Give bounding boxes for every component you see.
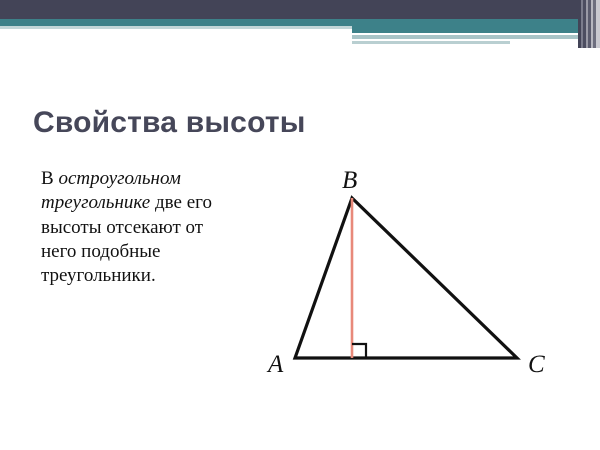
- page-title: Свойства высоты: [33, 106, 306, 140]
- vertex-label-c: C: [528, 351, 545, 378]
- stripe-gray-4: [596, 0, 600, 48]
- triangle-svg: B A C: [250, 160, 570, 385]
- right-angle-marker-icon: [352, 344, 366, 358]
- triangle-figure: B A C: [250, 160, 570, 385]
- slide-header-decoration: [0, 0, 600, 48]
- slide-body-text: В остроугольном треугольнике две его выс…: [41, 167, 231, 289]
- body-text-lead: В: [41, 168, 58, 189]
- header-accent-bar-pale-two: [352, 41, 510, 44]
- vertex-label-b: B: [342, 167, 357, 194]
- header-band-navy: [0, 0, 600, 19]
- header-band-teal: [0, 19, 600, 26]
- triangle-outline-abc: [295, 198, 517, 358]
- header-accent-bar-highlight: [430, 33, 560, 35]
- vertex-label-a: A: [266, 351, 284, 378]
- header-accent-bar-teal: [352, 26, 600, 33]
